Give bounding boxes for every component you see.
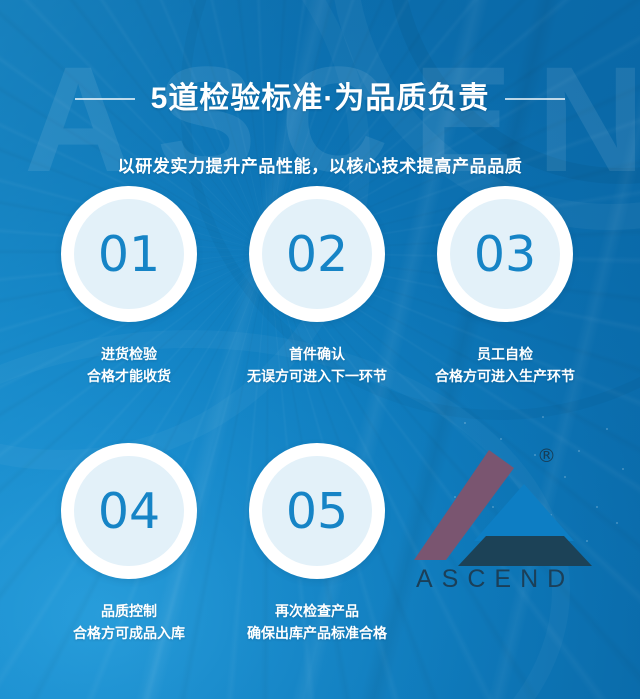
step-label-03: 员工自检 合格方可进入生产环节 [435,344,575,387]
step-label-line1-05: 再次检查产品 [275,603,359,619]
step-label-line2-02: 无误方可进入下一环节 [247,366,387,388]
header: 5道检验标准·为品质负责 以研发实力提升产品性能，以核心技术提高产品品质 [0,62,640,177]
step-number-03: 03 [474,230,536,279]
registered-trademark-icon: ® [537,447,556,466]
step-badge-02: 02 [249,186,385,322]
step-badge-inner-03: 03 [450,199,560,309]
step-badge-inner-01: 01 [74,199,184,309]
step-badge-05: 05 [249,443,385,579]
step-item-04: 04 品质控制 合格方可成品入库 [35,443,223,644]
brand-logo: ® ASCEND [406,440,621,600]
step-number-04: 04 [98,487,160,536]
title-rule-left-icon [75,98,135,100]
step-badge-inner-05: 05 [262,456,372,566]
step-badge-inner-04: 04 [74,456,184,566]
step-item-03: 03 员工自检 合格方可进入生产环节 [411,186,599,387]
step-number-01: 01 [98,230,160,279]
step-badge-01: 01 [61,186,197,322]
step-label-01: 进货检验 合格才能收货 [87,344,171,387]
page-subtitle: 以研发实力提升产品性能，以核心技术提高产品品质 [0,152,640,177]
step-label-line1-01: 进货检验 [101,346,157,362]
step-label-04: 品质控制 合格方可成品入库 [73,601,185,644]
title-row: 5道检验标准·为品质负责 [0,62,640,137]
step-label-line2-04: 合格方可成品入库 [73,623,185,645]
brand-wordmark: ASCEND [412,567,621,592]
step-label-line1-04: 品质控制 [101,603,157,619]
step-label-line2-05: 确保出库产品标准合格 [247,623,387,645]
step-number-02: 02 [286,230,348,279]
promo-banner: ASCEND 5道检验标准·为品质负责 以研发实力提升产品性能，以核心技术提高产… [0,0,640,699]
step-badge-inner-02: 02 [262,199,372,309]
step-label-02: 首件确认 无误方可进入下一环节 [247,344,387,387]
step-badge-04: 04 [61,443,197,579]
page-title: 5道检验标准·为品质负责 [151,82,490,117]
step-item-05: 05 再次检查产品 确保出库产品标准合格 [223,443,411,644]
step-item-01: 01 进货检验 合格才能收货 [35,186,223,387]
brand-logo-mark-icon [406,440,621,570]
step-badge-03: 03 [437,186,573,322]
step-label-line2-03: 合格方可进入生产环节 [435,366,575,388]
step-label-line1-03: 员工自检 [477,346,533,362]
step-item-02: 02 首件确认 无误方可进入下一环节 [223,186,411,387]
step-label-line2-01: 合格才能收货 [87,366,171,388]
step-number-05: 05 [286,487,348,536]
title-rule-right-icon [505,98,565,100]
steps-row-top: 01 进货检验 合格才能收货 02 首件确认 无误方可进入下一环节 [0,186,640,387]
step-label-05: 再次检查产品 确保出库产品标准合格 [247,601,387,644]
step-label-line1-02: 首件确认 [289,346,345,362]
